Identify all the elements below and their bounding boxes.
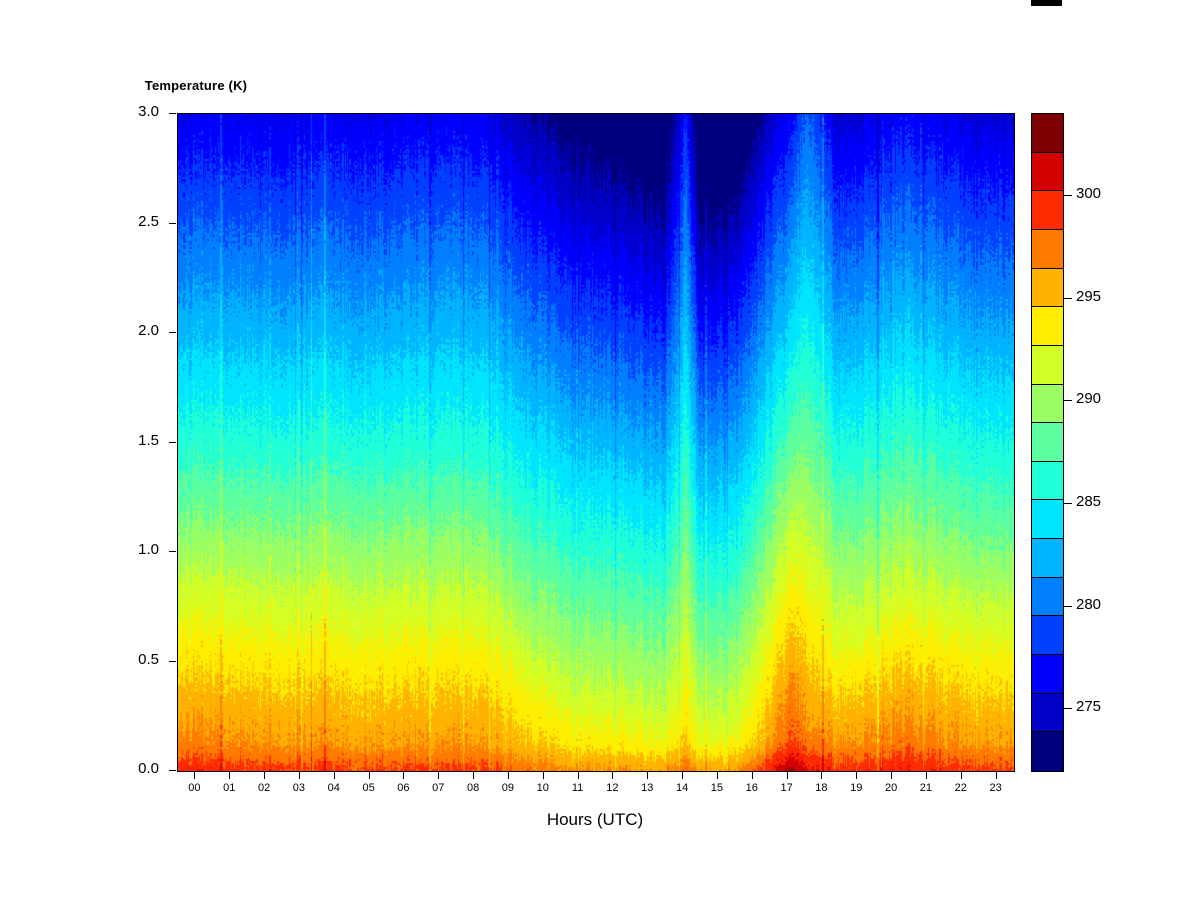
y-tick-mark	[169, 442, 176, 443]
colorbar-tick-mark	[1064, 298, 1072, 299]
colorbar-tick-mark	[1064, 503, 1072, 504]
y-tick-mark	[169, 223, 176, 224]
x-tick-mark	[856, 772, 857, 779]
y-tick-label: 0.0	[99, 760, 159, 777]
x-tick-mark	[647, 772, 648, 779]
y-tick-label: 3.0	[99, 103, 159, 120]
x-tick-mark	[299, 772, 300, 779]
colorbar	[1031, 113, 1064, 772]
colorbar-band	[1032, 578, 1063, 617]
colorbar-band	[1032, 462, 1063, 501]
x-tick-mark	[821, 772, 822, 779]
x-tick-mark	[787, 772, 788, 779]
colorbar-tick-label: 275	[1076, 698, 1101, 715]
colorbar-band	[1032, 694, 1063, 733]
colorbar-band	[1032, 346, 1063, 385]
y-tick-mark	[169, 113, 176, 114]
x-tick-mark	[926, 772, 927, 779]
colorbar-band	[1032, 616, 1063, 655]
x-tick-mark	[473, 772, 474, 779]
colorbar-band	[1032, 732, 1063, 771]
x-tick-mark	[438, 772, 439, 779]
y-tick-mark	[169, 551, 176, 552]
x-tick-mark	[752, 772, 753, 779]
colorbar-band	[1032, 269, 1063, 308]
x-tick-mark	[891, 772, 892, 779]
colorbar-tick-mark	[1064, 195, 1072, 196]
x-tick-mark	[543, 772, 544, 779]
x-tick-mark	[996, 772, 997, 779]
x-tick-mark	[612, 772, 613, 779]
x-tick-mark	[508, 772, 509, 779]
colorbar-band	[1032, 230, 1063, 269]
x-tick-mark	[403, 772, 404, 779]
x-tick-mark	[194, 772, 195, 779]
colorbar-tick-label: 300	[1076, 185, 1101, 202]
heatmap-panel	[177, 113, 1015, 772]
colorbar-tick-label: 280	[1076, 596, 1101, 613]
x-tick-mark	[334, 772, 335, 779]
x-tick-mark	[961, 772, 962, 779]
y-tick-label: 1.0	[99, 541, 159, 558]
colorbar-band	[1032, 153, 1063, 192]
y-tick-label: 2.0	[99, 322, 159, 339]
y-tick-mark	[169, 661, 176, 662]
x-tick-mark	[717, 772, 718, 779]
colorbar-band	[1032, 423, 1063, 462]
x-tick-label: 23	[976, 782, 1016, 794]
colorbar-band	[1032, 385, 1063, 424]
colorbar-tick-label: 290	[1076, 390, 1101, 407]
figure-root: Temperature (K) Height (km) Hours (UTC) …	[0, 0, 1200, 900]
colorbar-tick-mark	[1064, 708, 1072, 709]
x-tick-mark	[578, 772, 579, 779]
x-tick-mark	[264, 772, 265, 779]
colorbar-band	[1032, 114, 1063, 153]
y-tick-label: 1.5	[99, 432, 159, 449]
y-tick-label: 2.5	[99, 213, 159, 230]
x-tick-mark	[229, 772, 230, 779]
y-tick-label: 0.5	[99, 651, 159, 668]
temperature-field-canvas	[178, 114, 1014, 771]
colorbar-tick-label: 295	[1076, 288, 1101, 305]
colorbar-tick-mark	[1064, 606, 1072, 607]
colorbar-band	[1032, 191, 1063, 230]
x-axis-title: Hours (UTC)	[177, 810, 1013, 830]
colorbar-band	[1032, 307, 1063, 346]
y-tick-mark	[169, 332, 176, 333]
page-title: Temperature (K)	[0, 78, 796, 93]
colorbar-band	[1032, 500, 1063, 539]
x-tick-mark	[682, 772, 683, 779]
x-tick-mark	[369, 772, 370, 779]
clipped-artifact-mark	[1031, 0, 1062, 6]
colorbar-tick-label: 285	[1076, 493, 1101, 510]
colorbar-band	[1032, 655, 1063, 694]
y-tick-mark	[169, 770, 176, 771]
colorbar-tick-mark	[1064, 400, 1072, 401]
colorbar-band	[1032, 539, 1063, 578]
